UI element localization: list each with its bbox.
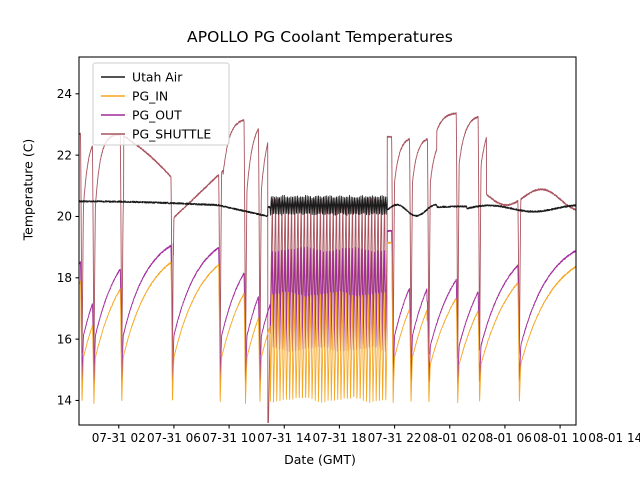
y-tick-label: 22 [57,148,72,162]
plot-canvas: 14161820222407-31 0207-31 0607-31 1007-3… [0,0,640,480]
chart-legend: Utah AirPG_INPG_OUTPG_SHUTTLE [93,63,229,145]
x-tick-label: 07-31 02 [92,431,146,445]
x-tick-label: 07-31 18 [312,431,366,445]
y-tick-label: 24 [57,87,72,101]
legend-label-utah air: Utah Air [132,69,183,84]
x-tick-label: 08-01 02 [423,431,477,445]
x-tick-label: 07-31 14 [257,431,311,445]
y-tick-label: 18 [57,271,72,285]
series-layer [79,113,576,423]
x-tick-label: 08-01 10 [533,431,587,445]
x-tick-label: 07-31 22 [368,431,422,445]
legend-label-pg-in: PG_IN [132,88,168,103]
chart-figure: APOLLO PG Coolant Temperatures Temperatu… [0,0,640,480]
y-tick-label: 14 [57,394,72,408]
x-tick-label: 07-31 10 [202,431,256,445]
legend-label-pg-shuttle: PG_SHUTTLE [132,126,211,141]
x-tick-label: 07-31 06 [147,431,201,445]
x-tick-label-overflow: 08-01 14 [588,431,640,445]
y-tick-label: 16 [57,332,72,346]
legend-label-pg-out: PG_OUT [132,107,182,122]
x-tick-label: 08-01 06 [478,431,532,445]
series-utah air [79,195,576,216]
y-tick-label: 20 [57,210,72,224]
